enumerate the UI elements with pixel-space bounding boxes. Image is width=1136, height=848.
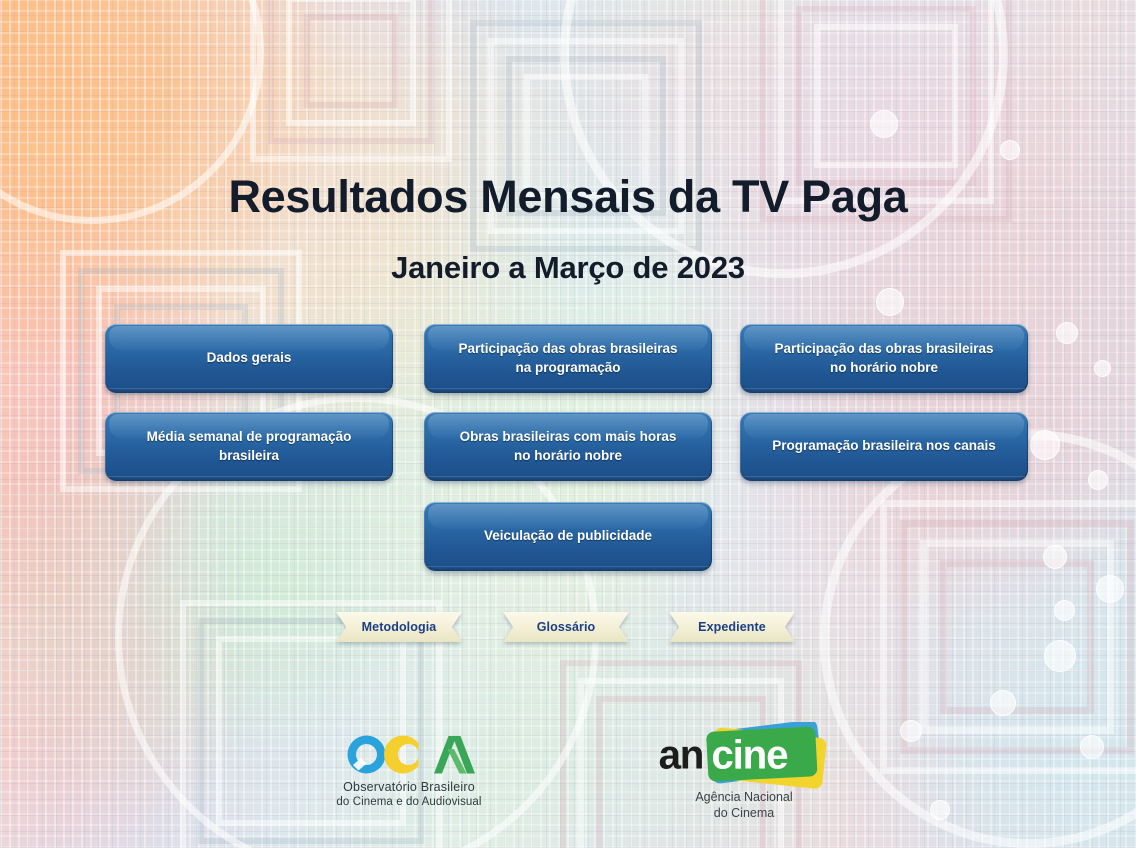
nav-button-label: Programação brasileira nos canais [772, 437, 996, 455]
nav-button-label: Participação das obras brasileiras na pr… [458, 340, 677, 376]
svg-text:an: an [659, 731, 704, 777]
secondary-button-label: Glossário [537, 620, 596, 634]
nav-button-media-semanal[interactable]: Média semanal de programação brasileira [105, 412, 393, 481]
secondary-button-label: Metodologia [362, 620, 437, 634]
nav-button-participacao-programacao[interactable]: Participação das obras brasileiras na pr… [424, 324, 712, 393]
svg-text:cine: cine [711, 731, 788, 777]
nav-button-veiculacao-publicidade[interactable]: Veiculação de publicidade [424, 502, 712, 571]
secondary-button-label: Expediente [698, 620, 766, 634]
nav-button-label: Participação das obras brasileiras no ho… [774, 340, 993, 376]
secondary-button-metodologia[interactable]: Metodologia [336, 612, 462, 642]
nav-button-programacao-canais[interactable]: Programação brasileira nos canais [740, 412, 1028, 481]
nav-button-obras-mais-horas[interactable]: Obras brasileiras com mais horas no horá… [424, 412, 712, 481]
ancine-logo-line2: do Cinema [655, 806, 833, 820]
nav-button-label: Veiculação de publicidade [484, 527, 652, 545]
nav-button-participacao-horario-nobre[interactable]: Participação das obras brasileiras no ho… [740, 324, 1028, 393]
page-subtitle: Janeiro a Março de 2023 [0, 250, 1136, 286]
nav-button-label: Obras brasileiras com mais horas no horá… [460, 428, 677, 464]
nav-button-dados-gerais[interactable]: Dados gerais [105, 324, 393, 393]
nav-button-label: Dados gerais [207, 349, 292, 367]
slide-canvas: Resultados Mensais da TV Paga Janeiro a … [0, 0, 1136, 848]
secondary-button-glossario[interactable]: Glossário [503, 612, 629, 642]
oca-logo: Observatório Brasileiro do Cinema e do A… [336, 734, 482, 819]
oca-logo-line2: do Cinema e do Audiovisual [336, 796, 482, 808]
ancine-logo: an cine Agência Nacional do Cinema [655, 722, 833, 824]
oca-logo-icon [346, 734, 476, 776]
secondary-button-expediente[interactable]: Expediente [669, 612, 795, 642]
page-title: Resultados Mensais da TV Paga [0, 171, 1136, 223]
oca-logo-line1: Observatório Brasileiro [336, 780, 482, 794]
ancine-logo-icon: an cine [655, 722, 833, 792]
ancine-logo-line1: Agência Nacional [655, 790, 833, 804]
nav-button-label: Média semanal de programação brasileira [147, 428, 352, 464]
